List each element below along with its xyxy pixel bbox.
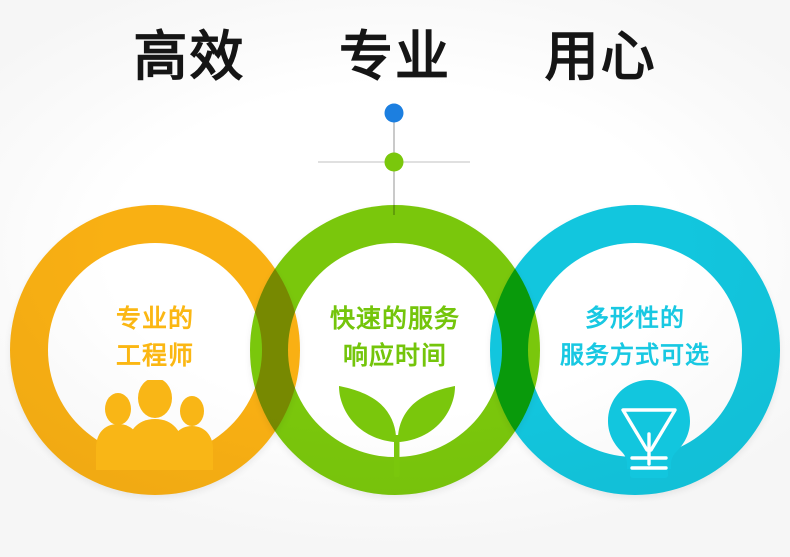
page-title-segment-2: 专业 (339, 26, 451, 88)
page-title-segment-1: 高效 (133, 26, 245, 88)
circle-orange-caption-line-2: 工程师 (48, 337, 262, 374)
connector-top-dot-icon (385, 104, 404, 123)
circle-green-caption: 快速的服务 响应时间 (288, 300, 502, 374)
circle-green-caption-line-2: 响应时间 (288, 337, 502, 374)
people-icon (88, 380, 222, 470)
circle-orange-caption-line-1: 专业的 (48, 300, 262, 337)
circle-blue-caption-line-1: 多形性的 (522, 300, 748, 337)
lightbulb-icon (588, 378, 710, 480)
page-title-segment-3: 用心 (545, 26, 657, 88)
connector-mid-dot-icon (385, 153, 404, 172)
sprout-icon (330, 380, 464, 480)
infographic-canvas: 高效 专业 用心 (0, 0, 790, 557)
circle-orange-caption: 专业的 工程师 (48, 300, 262, 374)
page-title: 高效 专业 用心 (0, 26, 790, 88)
circle-blue-caption-line-2: 服务方式可选 (522, 337, 748, 374)
circle-blue-caption: 多形性的 服务方式可选 (522, 300, 748, 374)
circle-green-caption-line-1: 快速的服务 (288, 300, 502, 337)
